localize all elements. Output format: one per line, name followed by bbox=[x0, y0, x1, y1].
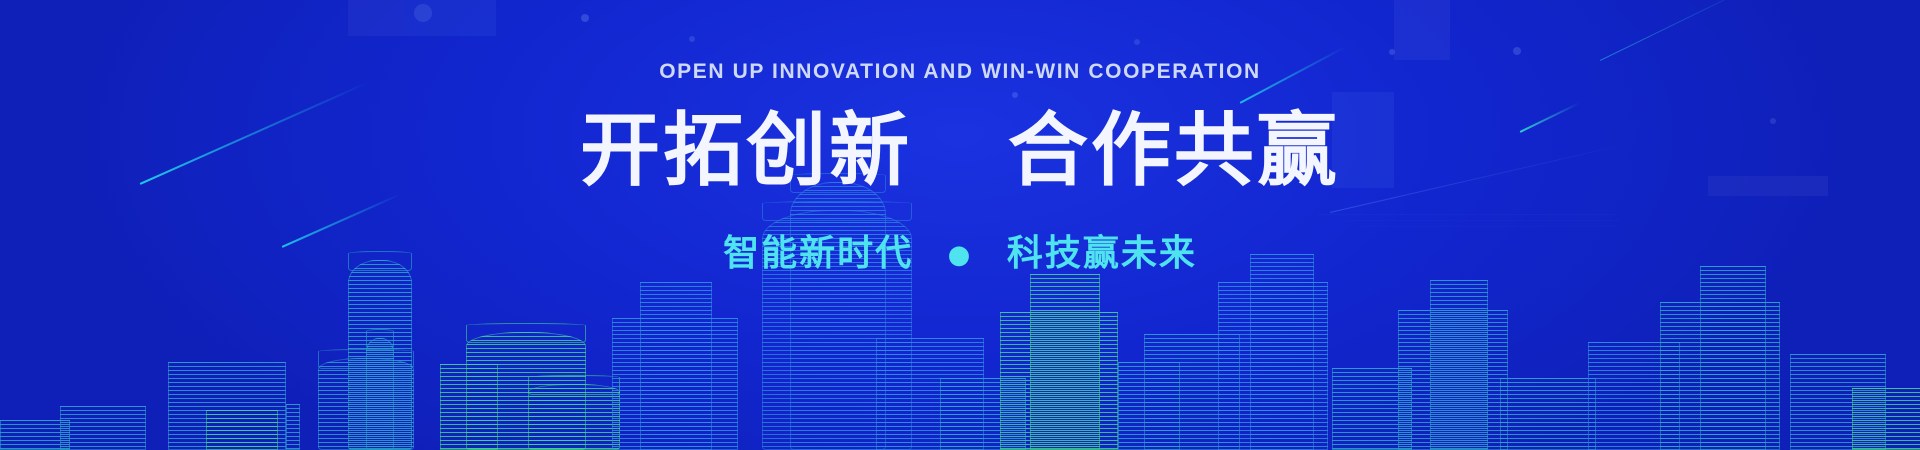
banner-headline: 开拓创新 合作共赢 bbox=[0, 111, 1920, 191]
city-building bbox=[0, 420, 70, 450]
building-edge bbox=[318, 358, 414, 450]
headline-part-left: 开拓创新 bbox=[580, 104, 912, 197]
building-edge bbox=[286, 404, 300, 450]
subline-part-right: 科技赢未来 bbox=[1007, 233, 1197, 274]
city-building bbox=[1500, 378, 1596, 450]
building-edge bbox=[206, 410, 278, 450]
building-cap bbox=[366, 329, 394, 349]
city-building bbox=[60, 406, 146, 450]
building-edge bbox=[1852, 388, 1920, 450]
city-building bbox=[1030, 274, 1100, 450]
building-cap bbox=[466, 323, 586, 343]
city-building bbox=[318, 358, 414, 450]
building-cap bbox=[318, 349, 414, 369]
city-building bbox=[1700, 266, 1766, 450]
banner-content: OPEN UP INNOVATION AND WIN-WIN COOPERATI… bbox=[0, 0, 1920, 276]
building-edge bbox=[640, 282, 712, 450]
building-edge bbox=[1250, 254, 1314, 450]
banner-subline: 智能新时代 ● 科技赢未来 bbox=[0, 224, 1920, 276]
city-building bbox=[1250, 254, 1314, 450]
building-cap bbox=[528, 375, 620, 395]
building-edge bbox=[1700, 266, 1766, 450]
city-building bbox=[528, 384, 620, 450]
hero-banner: OPEN UP INNOVATION AND WIN-WIN COOPERATI… bbox=[0, 0, 1920, 450]
headline-part-right: 合作共赢 bbox=[1008, 104, 1340, 197]
building-edge bbox=[1500, 378, 1596, 450]
building-edge bbox=[60, 406, 146, 450]
city-building bbox=[286, 404, 300, 450]
banner-eyebrow-text: OPEN UP INNOVATION AND WIN-WIN COOPERATI… bbox=[0, 60, 1920, 84]
subline-separator-dot: ● bbox=[948, 240, 973, 270]
building-edge bbox=[1030, 274, 1100, 450]
building-edge bbox=[1430, 280, 1488, 450]
city-building bbox=[1852, 388, 1920, 450]
city-building bbox=[640, 282, 712, 450]
building-edge bbox=[0, 420, 70, 450]
city-building bbox=[1430, 280, 1488, 450]
city-building bbox=[206, 410, 278, 450]
subline-part-left: 智能新时代 bbox=[723, 233, 913, 274]
